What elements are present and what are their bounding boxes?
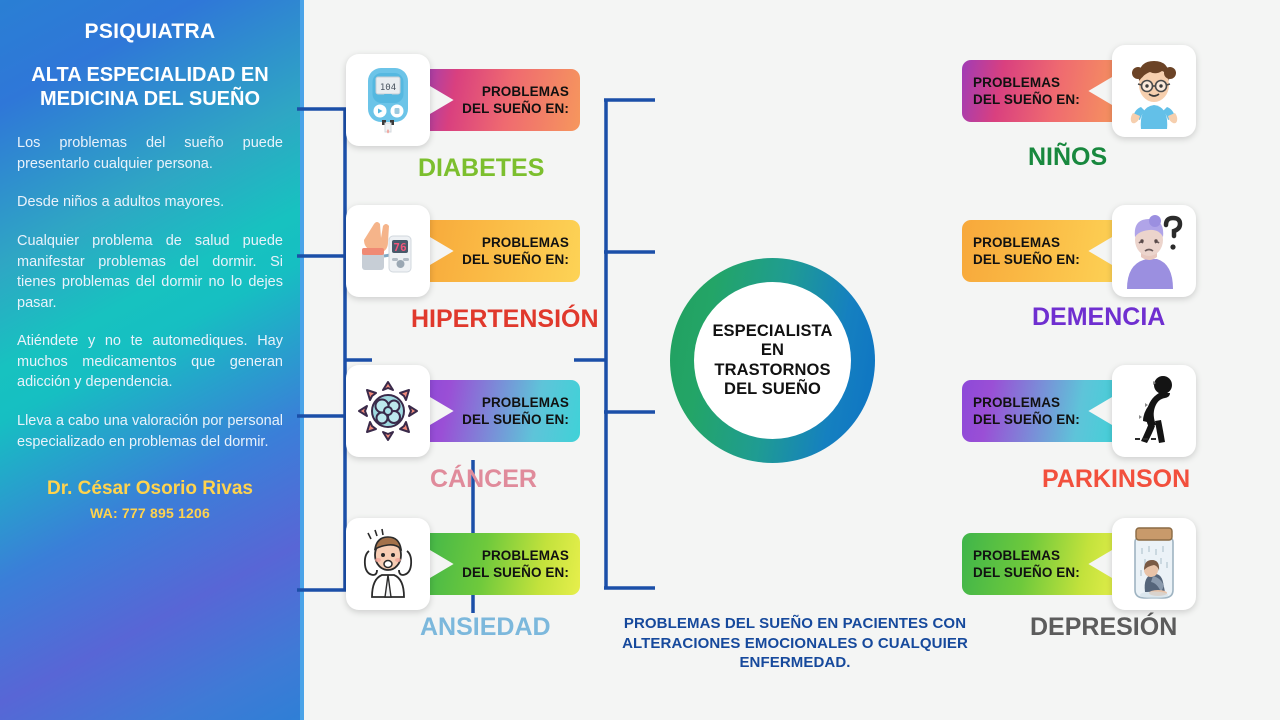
person-in-jar-icon xyxy=(1125,526,1183,602)
badge-line-1: PROBLEMAS xyxy=(973,74,1060,91)
badge-line-1: PROBLEMAS xyxy=(973,234,1060,251)
sidebar-paragraph-4: Atiéndete y no te automediques. Hay much… xyxy=(17,331,283,393)
center-node-inner: ESPECIALISTA EN TRASTORNOS DEL SUEÑO xyxy=(694,282,851,439)
stooped-walking-person-icon xyxy=(1123,375,1185,447)
svg-text:76: 76 xyxy=(393,241,407,254)
center-line-1: ESPECIALISTA xyxy=(712,322,832,340)
icon-card-diabetes: 104 xyxy=(346,54,430,146)
infographic-root: PSIQUIATRA ALTA ESPECIALIDAD EN MEDICINA… xyxy=(0,0,1280,720)
badge-line-1: PROBLEMAS xyxy=(973,547,1060,564)
center-line-2: EN xyxy=(761,341,784,359)
icon-card-ansiedad xyxy=(346,518,430,610)
branch-cancer[interactable]: PROBLEMAS DEL SUEÑO EN: CÁNCER xyxy=(346,365,580,457)
badge-ansiedad: PROBLEMAS DEL SUEÑO EN: xyxy=(420,533,580,595)
branch-hipertension[interactable]: 76 PROBLEMAS DEL SUEÑO EN: HIPERTENSIÓN xyxy=(346,205,580,297)
category-label-parkinson: PARKINSON xyxy=(1042,465,1190,494)
branch-parkinson[interactable]: PROBLEMAS DEL SUEÑO EN: PARKINSON xyxy=(962,365,1196,457)
branch-diabetes[interactable]: 104 PROBLEMAS DEL SUEÑO EN: DIABETES xyxy=(346,54,580,146)
badge-line-2: DEL SUEÑO EN: xyxy=(462,100,569,117)
branch-ansiedad[interactable]: PROBLEMAS DEL SUEÑO EN: ANSIEDAD xyxy=(346,518,580,610)
category-label-cancer: CÁNCER xyxy=(430,465,537,494)
child-icon xyxy=(1121,53,1187,129)
badge-cancer: PROBLEMAS DEL SUEÑO EN: xyxy=(420,380,580,442)
badge-line-1: PROBLEMAS xyxy=(973,394,1060,411)
center-node[interactable]: ESPECIALISTA EN TRASTORNOS DEL SUEÑO xyxy=(670,258,875,463)
badge-line-1: PROBLEMAS xyxy=(482,547,569,564)
branch-depresion[interactable]: PROBLEMAS DEL SUEÑO EN: DEPRESIÓN xyxy=(962,518,1196,610)
branch-demencia[interactable]: PROBLEMAS DEL SUEÑO EN: DEMENCIA xyxy=(962,205,1196,297)
branch-ninos[interactable]: PROBLEMAS DEL SUEÑO EN: NIÑOS xyxy=(962,45,1196,137)
category-label-diabetes: DIABETES xyxy=(418,154,544,183)
badge-diabetes: PROBLEMAS DEL SUEÑO EN: xyxy=(420,69,580,131)
footer-caption: PROBLEMAS DEL SUEÑO EN PACIENTES CON ALT… xyxy=(585,614,1005,673)
sidebar-paragraph-1: Los problemas del sueño puede presentarl… xyxy=(17,133,283,174)
badge-line-1: PROBLEMAS xyxy=(482,83,569,100)
badge-hipertension: PROBLEMAS DEL SUEÑO EN: xyxy=(420,220,580,282)
icon-card-cancer xyxy=(346,365,430,457)
center-line-3: TRASTORNOS xyxy=(714,361,830,379)
sidebar-title-specialty: PSIQUIATRA xyxy=(85,20,216,44)
whatsapp-contact[interactable]: WA: 777 895 1206 xyxy=(90,505,210,521)
badge-line-2: DEL SUEÑO EN: xyxy=(973,564,1080,581)
anxious-person-icon xyxy=(356,527,420,601)
badge-depresion: PROBLEMAS DEL SUEÑO EN: xyxy=(962,533,1122,595)
sidebar: PSIQUIATRA ALTA ESPECIALIDAD EN MEDICINA… xyxy=(0,0,300,720)
category-label-ninos: NIÑOS xyxy=(1028,143,1107,172)
badge-line-2: DEL SUEÑO EN: xyxy=(462,251,569,268)
icon-card-parkinson xyxy=(1112,365,1196,457)
badge-line-2: DEL SUEÑO EN: xyxy=(973,91,1080,108)
badge-line-1: PROBLEMAS xyxy=(482,394,569,411)
category-label-ansiedad: ANSIEDAD xyxy=(420,613,551,642)
sidebar-paragraph-2: Desde niños a adultos mayores. xyxy=(17,192,283,213)
icon-card-demencia xyxy=(1112,205,1196,297)
badge-line-1: PROBLEMAS xyxy=(482,234,569,251)
sidebar-paragraph-3: Cualquier problema de salud puede manife… xyxy=(17,231,283,313)
sidebar-paragraph-5: Lleva a cabo una valoración por personal… xyxy=(17,411,283,452)
badge-demencia: PROBLEMAS DEL SUEÑO EN: xyxy=(962,220,1122,282)
doctor-name: Dr. César Osorio Rivas xyxy=(47,478,253,500)
category-label-depresion: DEPRESIÓN xyxy=(1030,613,1177,642)
sidebar-title-subspecialty: ALTA ESPECIALIDAD EN MEDICINA DEL SUEÑO xyxy=(16,64,284,111)
cancer-cell-icon xyxy=(355,378,421,444)
badge-line-2: DEL SUEÑO EN: xyxy=(462,564,569,581)
badge-line-2: DEL SUEÑO EN: xyxy=(973,251,1080,268)
badge-line-2: DEL SUEÑO EN: xyxy=(462,411,569,428)
category-label-hipertension: HIPERTENSIÓN xyxy=(411,305,599,334)
elderly-confused-icon xyxy=(1121,213,1187,289)
center-line-4: DEL SUEÑO xyxy=(724,380,821,398)
badge-parkinson: PROBLEMAS DEL SUEÑO EN: xyxy=(962,380,1122,442)
icon-card-depresion xyxy=(1112,518,1196,610)
glucose-meter-icon: 104 xyxy=(360,66,416,134)
svg-text:104: 104 xyxy=(380,83,396,93)
icon-card-ninos xyxy=(1112,45,1196,137)
category-label-demencia: DEMENCIA xyxy=(1032,303,1165,332)
badge-line-2: DEL SUEÑO EN: xyxy=(973,411,1080,428)
center-node-label: ESPECIALISTA EN TRASTORNOS DEL SUEÑO xyxy=(712,322,832,400)
badge-ninos: PROBLEMAS DEL SUEÑO EN: xyxy=(962,60,1122,122)
icon-card-hipertension: 76 xyxy=(346,205,430,297)
blood-pressure-monitor-icon: 76 xyxy=(356,218,420,284)
